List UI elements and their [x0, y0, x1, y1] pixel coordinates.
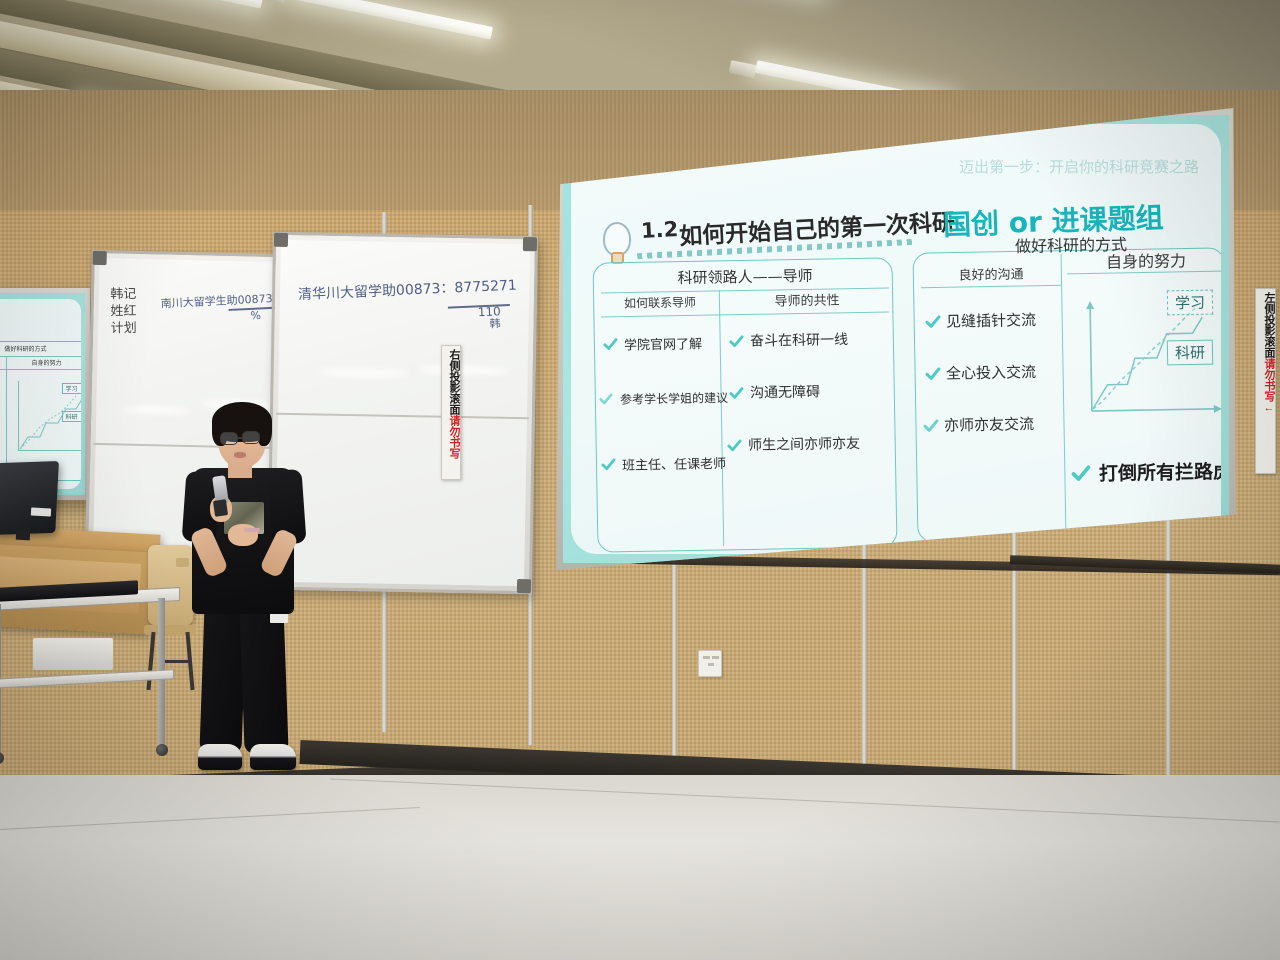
sign-left-line2: 请勿书写	[447, 415, 459, 459]
check-icon	[925, 366, 940, 381]
floor	[0, 775, 1280, 960]
main-projection-screen: 迈出第一步：开启你的科研竞赛之路 1.2 如何开始自己的第一次科研 国创 or …	[556, 108, 1236, 570]
left-col2-header: 导师的共性	[725, 289, 889, 311]
ceiling-light-3	[285, 0, 493, 40]
slide: 迈出第一步：开启你的科研竞赛之路 1.2 如何开始自己的第一次科研 国创 or …	[571, 124, 1221, 554]
left-col2-item-2-label: 师生之间亦师亦友	[748, 433, 860, 455]
slide-section-number: 1.2	[640, 217, 678, 243]
cart-lower-shelf	[0, 669, 174, 689]
glasses-bridge	[238, 437, 243, 439]
left-col1-item-2-label: 班主任、任课老师	[622, 453, 726, 474]
left-col1-item-0-label: 学院官网了解	[624, 333, 702, 353]
presenter	[176, 400, 336, 790]
check-icon	[599, 392, 614, 407]
left-col1-item-1-label: 参考学长学姐的建议	[620, 389, 728, 408]
wall-outlet[interactable]	[698, 650, 722, 677]
check-icon	[603, 337, 618, 352]
left-screen-panel-title: 做好科研的方式	[0, 344, 81, 353]
whiteboard-note-2: 清华川大留学助00873：8775271	[298, 275, 518, 305]
left-col2-item-0: 奋斗在科研一线	[729, 329, 848, 351]
right-col1-item-1-label: 全心投入交流	[946, 361, 1036, 384]
sign-right-line1: 左侧投影滚面	[1262, 292, 1274, 358]
right-col1-item-1: 全心投入交流	[925, 361, 1036, 384]
cart-caster	[0, 752, 4, 764]
chart-tag-research: 科研	[1167, 340, 1213, 366]
check-icon	[925, 314, 940, 329]
check-icon	[601, 457, 616, 472]
right-panel-conclusion: 打倒所有拦路虎！	[1071, 456, 1221, 486]
glasses-left-lens	[220, 432, 238, 445]
check-icon	[1071, 463, 1091, 483]
slide-kicker: 迈出第一步：开启你的科研竞赛之路	[959, 156, 1199, 177]
display-monitor[interactable]	[0, 461, 59, 535]
right-col1-header: 良好的沟通	[921, 263, 1061, 284]
right-col2-header: 自身的努力	[1067, 247, 1221, 274]
monitor-label	[31, 507, 51, 516]
left-col1-item-2: 班主任、任课老师	[601, 453, 726, 474]
whiteboard-note-2-sub2: 韩	[489, 315, 501, 331]
light-fixture-end	[729, 60, 757, 78]
shoe-right	[250, 744, 296, 770]
cart-caster	[156, 744, 168, 756]
whiteboard-note-heading: 韩记 姓红 计划	[110, 286, 137, 337]
lightbulb-icon	[603, 222, 631, 256]
left-col1-item-0: 学院官网了解	[603, 333, 702, 354]
conclusion-label: 打倒所有拦路虎！	[1099, 456, 1221, 486]
left-col2-item-1: 沟通无障碍	[729, 381, 820, 403]
right-col1-item-2-label: 亦师亦友交流	[944, 413, 1034, 436]
left-col1-item-1: 参考学长学姐的建议	[599, 389, 728, 408]
chart-tag-study: 学习	[1167, 290, 1213, 316]
shoe-left	[198, 744, 242, 770]
microphone-grip	[213, 499, 228, 517]
lecture-hall-photo: or 进课题组 做好科研的方式 自身的努力 学习 科研 打倒所有拦路虎！	[0, 0, 1280, 960]
rolling-cart[interactable]	[0, 592, 180, 792]
left-col2-item-1-label: 沟通无障碍	[750, 381, 820, 402]
right-col1-item-2: 亦师亦友交流	[923, 413, 1034, 436]
glasses-right-lens	[242, 431, 260, 444]
check-icon	[727, 437, 742, 452]
sign-left-line1: 右侧投影滚面	[447, 349, 459, 415]
check-icon	[729, 385, 744, 400]
left-col2-item-0-label: 奋斗在科研一线	[750, 329, 848, 351]
check-icon	[729, 333, 744, 348]
check-icon	[923, 418, 938, 433]
left-col2-item-2: 师生之间亦师亦友	[727, 433, 860, 455]
light-fixture-end	[259, 0, 287, 3]
sign-no-writing-left: 右侧投影滚面请勿书写	[441, 345, 461, 480]
projected-slide-surface: 迈出第一步：开启你的科研竞赛之路 1.2 如何开始自己的第一次科研 国创 or …	[563, 115, 1229, 563]
left-screen-column-header: 自身的努力	[6, 358, 81, 367]
whiteboard-note-1-sub: %	[250, 309, 261, 322]
right-col1-item-0: 见缝插针交流	[925, 309, 1036, 332]
right-col1-item-0-label: 见缝插针交流	[946, 309, 1036, 332]
sign-right-arrow: ←	[1262, 402, 1274, 414]
sign-right-line2: 请勿书写	[1262, 358, 1274, 402]
left-col1-header: 如何联系导师	[601, 293, 719, 312]
leg-right	[239, 602, 288, 753]
sign-no-writing-right: 左侧投影滚面请勿书写←	[1255, 288, 1276, 474]
